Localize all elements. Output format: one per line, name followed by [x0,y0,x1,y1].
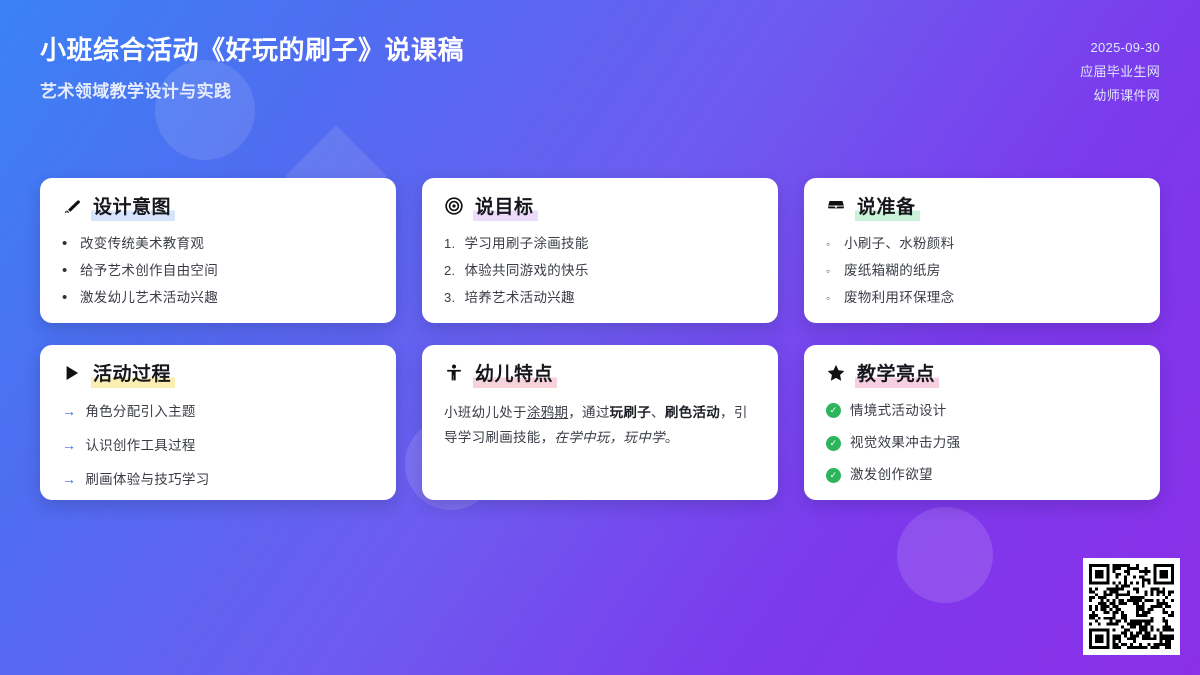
star-icon [826,363,846,387]
header-meta: 2025-09-30 应届毕业生网 幼师课件网 [1080,34,1160,106]
paragraph-segment: 在学中玩，玩中学 [554,430,664,445]
list-item: ✓视觉效果冲击力强 [826,433,1138,453]
list-item-label: 改变传统美术教育观 [80,234,204,254]
list-item: •激发幼儿艺术活动兴趣 [62,288,374,308]
qr-code-image [1089,564,1174,649]
card-title: 活动过程 [91,363,175,388]
card-header: 说目标 [444,196,756,221]
paragraph-segment: 小班幼儿处于 [444,405,527,420]
list-marker: → [62,435,76,456]
page-subtitle: 艺术领域教学设计与实践 [40,77,464,102]
list-item-label: 角色分配引入主题 [85,402,195,422]
list-item: ◦废物利用环保理念 [826,288,1138,308]
list-item-label: 刷画体验与技巧学习 [85,470,209,490]
list-item-label: 学习用刷子涂画技能 [464,234,588,254]
content-card: 幼儿特点小班幼儿处于涂鸦期，通过玩刷子、刷色活动，引导学习刷画技能，在学中玩，玩… [422,345,778,500]
list-item: ◦废纸箱糊的纸房 [826,261,1138,281]
list-marker: 2. [444,261,455,281]
list-item: ✓情境式活动设计 [826,401,1138,421]
paragraph-segment: 。 [665,430,679,445]
child-person-icon [444,363,464,387]
list-item: 2.体验共同游戏的快乐 [444,261,756,281]
card-header: 教学亮点 [826,363,1138,388]
list-marker: 3. [444,288,455,308]
card-list: →角色分配引入主题→认识创作工具过程→刷画体验与技巧学习 [62,401,374,491]
open-box-icon [826,196,846,220]
check-circle-icon: ✓ [826,436,841,451]
list-item-label: 情境式活动设计 [850,401,947,421]
list-marker: → [62,401,76,422]
list-item: •改变传统美术教育观 [62,234,374,254]
content-card: 说目标1.学习用刷子涂画技能2.体验共同游戏的快乐3.培养艺术活动兴趣 [422,178,778,323]
paragraph-segment: 玩刷子 [610,405,651,420]
content-card-grid: 设计意图•改变传统美术教育观•给予艺术创作自由空间•激发幼儿艺术活动兴趣 说目标… [40,178,1160,500]
list-item: →角色分配引入主题 [62,401,374,422]
card-paragraph: 小班幼儿处于涂鸦期，通过玩刷子、刷色活动，引导学习刷画技能，在学中玩，玩中学。 [444,401,756,451]
list-item-label: 激发创作欲望 [850,465,933,485]
meta-date: 2025-09-30 [1080,38,1160,58]
list-marker: ◦ [826,289,835,307]
list-item-label: 体验共同游戏的快乐 [464,261,588,281]
list-marker: • [62,236,71,251]
card-title: 教学亮点 [855,363,939,388]
list-marker: ◦ [826,262,835,280]
header-titles: 小班综合活动《好玩的刷子》说课稿 艺术领域教学设计与实践 [40,34,464,102]
paragraph-segment: 刷色活动 [665,405,720,420]
card-list: ✓情境式活动设计✓视觉效果冲击力强✓激发创作欲望 [826,401,1138,486]
paragraph-segment: 涂鸦期 [527,405,568,420]
list-marker: → [62,469,76,490]
card-header: 活动过程 [62,363,374,388]
page-title: 小班综合活动《好玩的刷子》说课稿 [40,34,464,67]
list-item: →认识创作工具过程 [62,435,374,456]
list-item: 1.学习用刷子涂画技能 [444,234,756,254]
card-list: •改变传统美术教育观•给予艺术创作自由空间•激发幼儿艺术活动兴趣 [62,234,374,309]
card-header: 幼儿特点 [444,363,756,388]
card-title: 幼儿特点 [473,363,557,388]
card-list: 1.学习用刷子涂画技能2.体验共同游戏的快乐3.培养艺术活动兴趣 [444,234,756,309]
list-item: ◦小刷子、水粉颜料 [826,234,1138,254]
play-triangle-icon [62,363,82,387]
card-header: 说准备 [826,196,1138,221]
target-icon [444,196,464,220]
list-item-label: 废物利用环保理念 [844,288,954,308]
content-card: 设计意图•改变传统美术教育观•给予艺术创作自由空间•激发幼儿艺术活动兴趣 [40,178,396,323]
paintbrush-icon [62,196,82,220]
meta-source-1: 应届毕业生网 [1080,62,1160,82]
list-item-label: 给予艺术创作自由空间 [80,261,218,281]
list-marker: 1. [444,234,455,254]
card-list: ◦小刷子、水粉颜料◦废纸箱糊的纸房◦废物利用环保理念 [826,234,1138,309]
card-header: 设计意图 [62,196,374,221]
card-title: 说准备 [855,196,920,221]
list-item-label: 视觉效果冲击力强 [850,433,960,453]
list-item: •给予艺术创作自由空间 [62,261,374,281]
list-item-label: 废纸箱糊的纸房 [844,261,941,281]
content-card: 说准备◦小刷子、水粉颜料◦废纸箱糊的纸房◦废物利用环保理念 [804,178,1160,323]
content-card: 活动过程→角色分配引入主题→认识创作工具过程→刷画体验与技巧学习 [40,345,396,500]
list-item-label: 培养艺术活动兴趣 [464,288,574,308]
meta-source-2: 幼师课件网 [1080,86,1160,106]
list-item-label: 小刷子、水粉颜料 [844,234,954,254]
card-title: 设计意图 [91,196,175,221]
list-marker: • [62,263,71,278]
qr-code[interactable] [1083,558,1180,655]
slide-header: 小班综合活动《好玩的刷子》说课稿 艺术领域教学设计与实践 2025-09-30 … [0,0,1200,140]
card-title: 说目标 [473,196,538,221]
content-card: 教学亮点✓情境式活动设计✓视觉效果冲击力强✓激发创作欲望 [804,345,1160,500]
paragraph-segment: 、 [651,405,665,420]
list-item: 3.培养艺术活动兴趣 [444,288,756,308]
list-item-label: 激发幼儿艺术活动兴趣 [80,288,218,308]
list-marker: ◦ [826,235,835,253]
check-circle-icon: ✓ [826,468,841,483]
paragraph-segment: ，通过 [568,405,609,420]
decorative-circle-bottom [897,507,993,603]
list-item: →刷画体验与技巧学习 [62,469,374,490]
check-circle-icon: ✓ [826,403,841,418]
list-item: ✓激发创作欲望 [826,465,1138,485]
list-marker: • [62,290,71,305]
list-item-label: 认识创作工具过程 [85,436,195,456]
